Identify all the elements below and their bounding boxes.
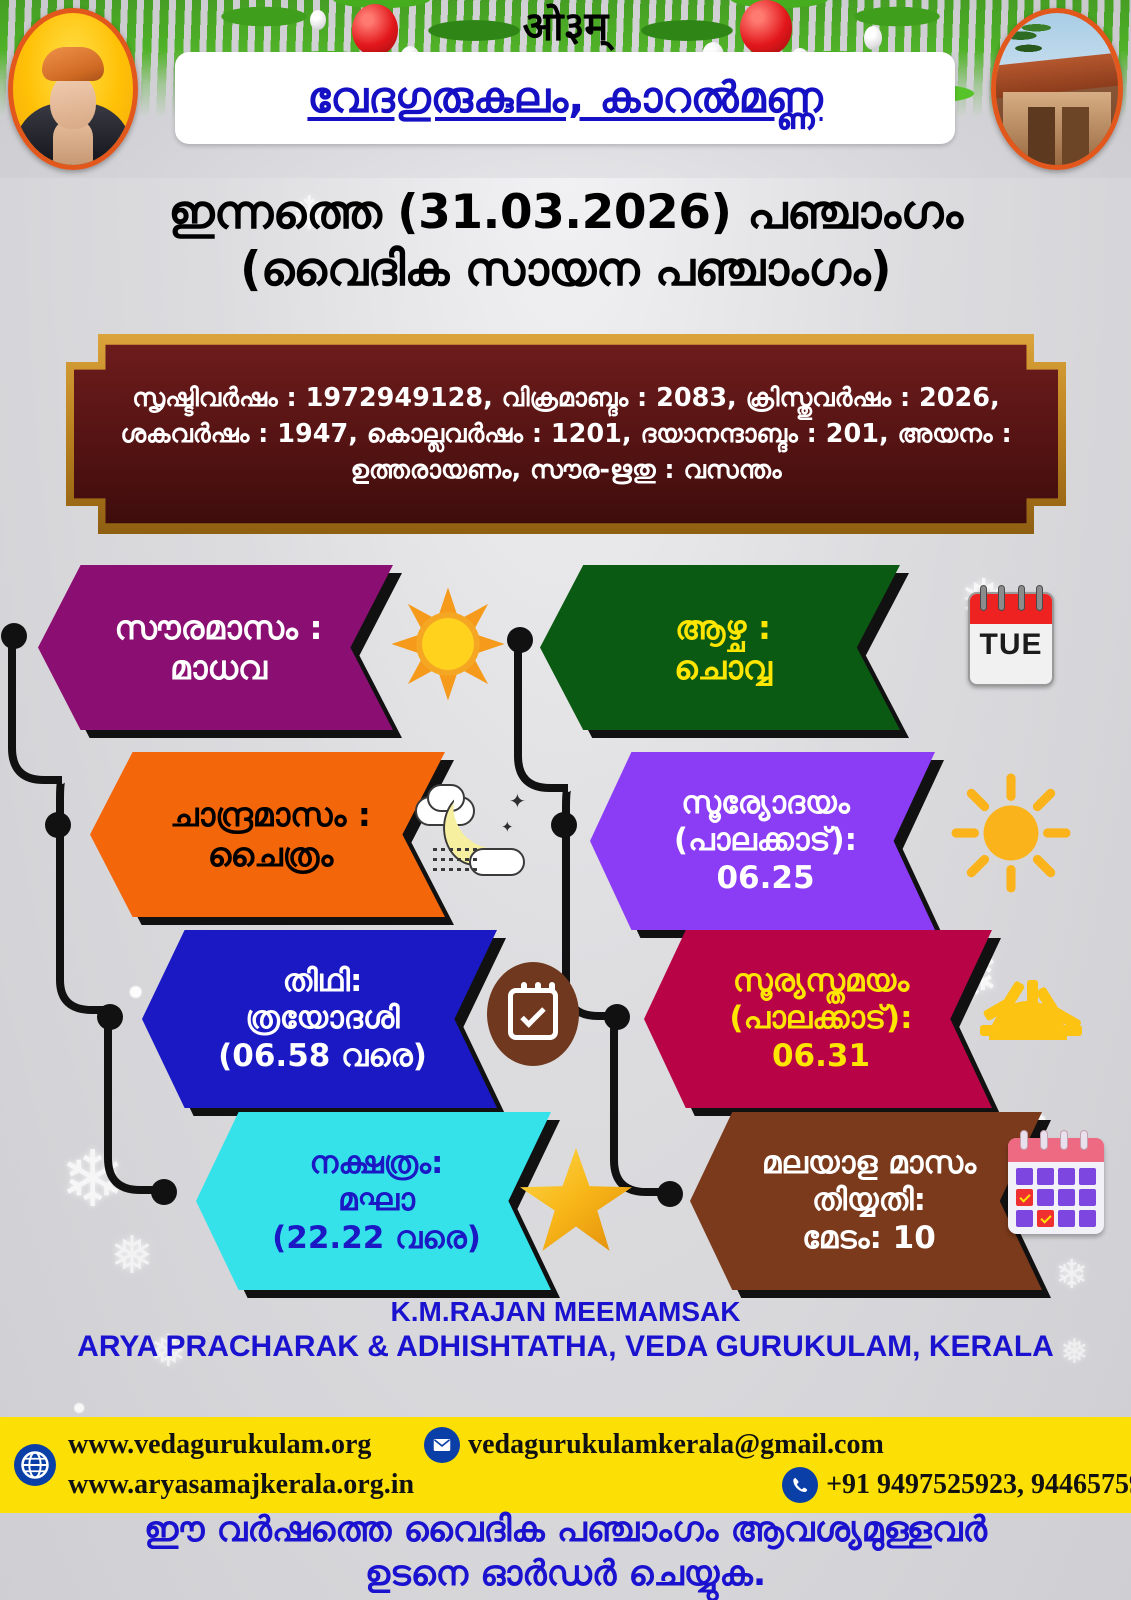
panel-label: മലയാള മാസം [762, 1145, 976, 1182]
year-info-plaque: സൃഷ്ടിവർഷം : 1972949128, വിക്രമാബ്ദം : 2… [66, 334, 1066, 534]
panel-aazhcha[interactable]: ആഴ്ച : ചൊവ്വ [540, 565, 900, 730]
calendar-tab [549, 982, 555, 993]
author-credit: K.M.RAJAN MEEMAMSAK ARYA PRACHARAK & ADH… [0, 1295, 1131, 1365]
email-address[interactable]: vedagurukulamkerala@gmail.com [468, 1425, 884, 1465]
wave-line [433, 858, 479, 861]
year-info-plaque-inner: സൃഷ്ടിവർഷം : 1972949128, വിക്രമാബ്ദം : 2… [74, 342, 1058, 526]
calendar-check-icon [487, 962, 579, 1066]
panel-face: ചാന്ദ്രമാസം : ചൈത്രം [90, 752, 445, 917]
calendar-tab [535, 982, 541, 993]
calendar-ring [1020, 1130, 1028, 1150]
phone-icon [782, 1467, 818, 1503]
order-notice-line2: ഉടനെ ഓർഡർ ചെയ്യുക. [0, 1552, 1131, 1596]
panel-value: മഘാ [272, 1182, 481, 1219]
sunset-glyph [962, 952, 1094, 1056]
panel-saura-masam[interactable]: സൗരമാസം : മാധവ [38, 565, 393, 730]
website-primary[interactable]: www.vedagurukulam.org [68, 1425, 414, 1465]
websites-group: www.vedagurukulam.org www.aryasamajkeral… [14, 1425, 414, 1505]
calendar-ring [1036, 585, 1043, 611]
calendar-cell [1058, 1210, 1075, 1227]
calendar-check-glyph [487, 962, 579, 1066]
panel-sunset[interactable]: സൂര്യസ്തമയം (പാലക്കാട്): 06.31 [644, 930, 992, 1108]
panel-label: തിഥി: [218, 963, 427, 1000]
calendar-grid-icon [1008, 1138, 1104, 1234]
panel-sunrise[interactable]: സൂര്യോദയം (പാലക്കാട്): 06.25 [590, 752, 935, 930]
globe-icon [14, 1444, 56, 1486]
panel-label: സൗരമാസം : [114, 608, 322, 648]
panel-face: തിഥി: ത്രയോദശി (06.58 വരെ) [142, 930, 497, 1108]
sun-icon [950, 772, 1072, 894]
contact-bar: www.vedagurukulam.org www.aryasamajkeral… [0, 1417, 1131, 1513]
sparkle-icon: ✦ [501, 820, 514, 835]
panel-chandra-masam[interactable]: ചാന്ദ്രമാസം : ചൈത്രം [90, 752, 445, 917]
calendar-ring [1060, 1130, 1068, 1150]
phone-icon-glyph [790, 1475, 810, 1495]
calendar-grid-glyph [1008, 1138, 1104, 1234]
calendar-cell [1058, 1189, 1075, 1206]
moon-glyph: ✦ ✦ [415, 778, 533, 882]
sun-rays-glyph [950, 772, 1072, 894]
panel-value: ത്രയോദശി [218, 1000, 427, 1037]
phone-row: +91 9497525923, 9446575923 [424, 1465, 1131, 1505]
calendar-cell [1079, 1168, 1096, 1185]
calendar-cell-checked [1016, 1189, 1033, 1206]
author-designation: ARYA PRACHARAK & ADHISHTATHA, VEDA GURUK… [0, 1329, 1131, 1365]
panel-duration: (06.58 വരെ) [218, 1038, 427, 1075]
panel-sublabel: (പാലക്കാട്): [674, 822, 857, 859]
author-name: K.M.RAJAN MEEMAMSAK [0, 1295, 1131, 1329]
panel-label: സൂര്യസ്തമയം [729, 963, 912, 1000]
calendar-tab [521, 982, 527, 993]
panel-duration: (22.22 വരെ) [272, 1220, 481, 1257]
calendar-cell [1079, 1189, 1096, 1206]
calendar-ring [1080, 1130, 1088, 1150]
page-title-line2: (വൈദിക സായന പഞ്ചാംഗം) [0, 241, 1131, 298]
panel-value: ചൊവ്വ [674, 648, 772, 688]
calendar-ring [980, 585, 987, 611]
calendar-cell [1037, 1189, 1054, 1206]
email-line: vedagurukulamkerala@gmail.com [468, 1425, 884, 1465]
email-phone-group: vedagurukulamkerala@gmail.com +91 949752… [424, 1425, 1131, 1505]
portrait-figure [13, 43, 133, 165]
panel-label: ചാന്ദ്രമാസം : [170, 795, 371, 835]
calendar-ring [1040, 1130, 1048, 1150]
check-mark-icon [520, 1002, 545, 1027]
calendar-cell [1079, 1210, 1096, 1227]
calendar-cell [1058, 1168, 1075, 1185]
panel-value: 06.31 [729, 1038, 912, 1075]
panel-value: മേടം: 10 [762, 1220, 976, 1257]
calendar-ring [1018, 585, 1025, 611]
organization-title-plate: വേദഗുരുകുലം, കാറൽമണ്ണ [175, 52, 955, 144]
calendar-day-label: TUE [970, 628, 1052, 662]
calendar-cell [1016, 1168, 1033, 1185]
panel-face: സൗരമാസം : മാധവ [38, 565, 393, 730]
calendar-cell [1016, 1210, 1033, 1227]
sun-icon-glyph [388, 585, 508, 703]
calendar-tue-icon: TUE [968, 592, 1054, 686]
sunset-icon [962, 952, 1094, 1056]
wave-line [433, 868, 479, 871]
mail-icon [424, 1427, 460, 1463]
star-glyph [520, 1148, 632, 1254]
moon-icon: ✦ ✦ [415, 778, 533, 882]
phone-numbers[interactable]: +91 9497525923, 9446575923 [826, 1465, 1131, 1505]
panel-face: സൂര്യോദയം (പാലക്കാട്): 06.25 [590, 752, 935, 930]
sun-icon [388, 585, 508, 703]
panel-value: മാധവ [114, 648, 322, 688]
website-secondary[interactable]: www.aryasamajkerala.org.in [68, 1465, 414, 1505]
page-title-line1: ഇന്നത്തെ (31.03.2026) പഞ്ചാംഗം [0, 184, 1131, 241]
building-wall [1003, 92, 1110, 165]
panel-sublabel: (പാലക്കാട്): [729, 1000, 912, 1037]
mail-icon-glyph [431, 1434, 453, 1456]
calendar-cell-checked [1037, 1210, 1054, 1227]
panel-label: നക്ഷത്രം: [272, 1145, 481, 1182]
panel-face: ആഴ്ച : ചൊവ്വ [540, 565, 900, 730]
calendar-cell [1037, 1168, 1054, 1185]
calendar-tue-glyph: TUE [968, 592, 1054, 686]
panel-value: ചൈത്രം [170, 835, 371, 875]
portrait-turban [42, 47, 104, 81]
page-title: ഇന്നത്തെ (31.03.2026) പഞ്ചാംഗം (വൈദിക സാ… [0, 184, 1131, 299]
panel-malayalam-month[interactable]: മലയാള മാസം തിയ്യതി: മേടം: 10 [690, 1112, 1042, 1290]
calendar-sheet [508, 988, 558, 1040]
building-door [1028, 107, 1055, 165]
portrait-face [50, 73, 96, 129]
poster-header: ओ३म् വേദഗുരുകുലം, കാറൽമണ്ണ [0, 0, 1131, 178]
panel-nakshatram[interactable]: നക്ഷത്രം: മഘാ (22.22 വരെ) [196, 1112, 551, 1290]
panel-tithi[interactable]: തിഥി: ത്രയോദശി (06.58 വരെ) [142, 930, 497, 1108]
wave-line [433, 848, 479, 851]
panel-label: സൂര്യോദയം [674, 785, 857, 822]
panel-face: മലയാള മാസം തിയ്യതി: മേടം: 10 [690, 1112, 1042, 1290]
order-notice: ഈ വർഷത്തെ വൈദിക പഞ്ചാംഗം ആവശ്യമുള്ളവർ ഉട… [0, 1508, 1131, 1596]
order-notice-line1: ഈ വർഷത്തെ വൈദിക പഞ്ചാംഗം ആവശ്യമുള്ളവർ [0, 1508, 1131, 1552]
website-lines: www.vedagurukulam.org www.aryasamajkeral… [68, 1425, 414, 1505]
organization-title: വേദഗുരുകുലം, കാറൽമണ്ണ [307, 73, 822, 123]
panel-value: 06.25 [674, 860, 857, 897]
email-row: vedagurukulamkerala@gmail.com [424, 1425, 1131, 1465]
globe-icon-glyph [20, 1450, 50, 1480]
phone-line: +91 9497525923, 9446575923 [826, 1465, 1131, 1505]
star-icon [520, 1148, 632, 1254]
calendar-cells [1016, 1168, 1096, 1227]
panel-face: നക്ഷത്രം: മഘാ (22.22 വരെ) [196, 1112, 551, 1290]
panel-sublabel: തിയ്യതി: [762, 1182, 976, 1219]
cloud-shape [469, 848, 525, 876]
calendar-ring [998, 585, 1005, 611]
panel-label: ആഴ്ച : [674, 608, 772, 648]
om-symbol: ओ३म् [0, 6, 1131, 48]
panel-face: സൂര്യസ്തമയം (പാലക്കാട്): 06.31 [644, 930, 992, 1108]
building-door [1062, 107, 1089, 165]
sparkle-icon: ✦ [509, 792, 526, 812]
year-info-text: സൃഷ്ടിവർഷം : 1972949128, വിക്രമാബ്ദം : 2… [108, 380, 1024, 489]
